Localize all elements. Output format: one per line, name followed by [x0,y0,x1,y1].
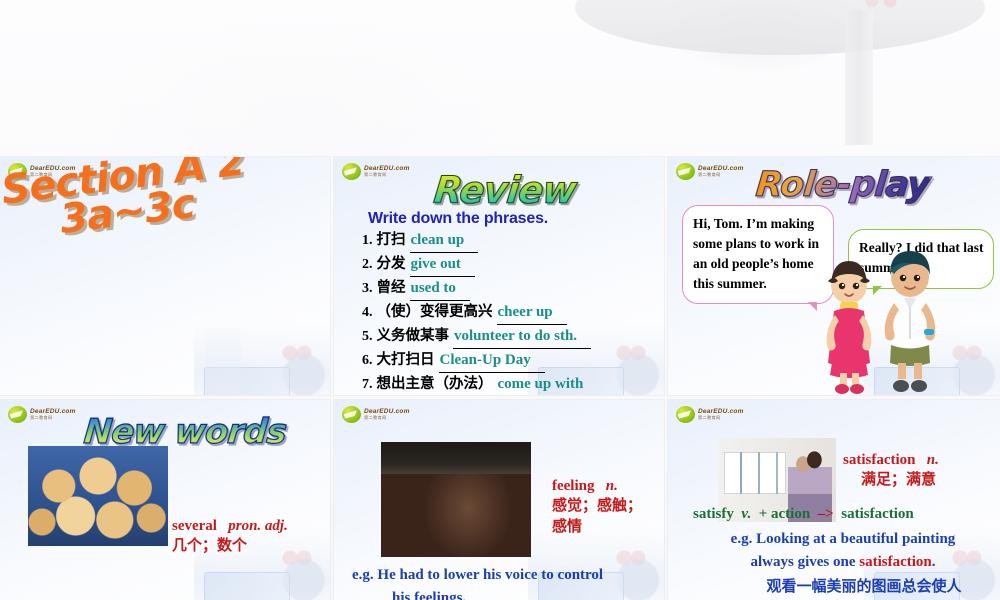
list-item: 2. 分发 give out [362,253,660,277]
review-heading: Write down the phrases. [368,210,548,228]
book-watermark [204,572,290,600]
item-chinese: 分发 [377,253,406,275]
item-english: come up with [497,373,598,395]
example-line2: his feelings. [352,587,664,600]
logo-subtitle: 第二教育网 [364,416,410,420]
example-line2-a: always gives one [751,554,860,570]
item-chinese: 打扫 [377,229,406,251]
vocab-feeling-headword: feeling n. [552,478,642,495]
vocab-satisfaction-example: e.g. Looking at a beautiful painting alw… [690,528,996,598]
glass-watermark [205,325,241,395]
logo-subtitle: 第二教育网 [698,173,744,177]
formula-pos: v. [741,506,751,522]
list-item: 7. 想出主意（办法） come up with [362,373,660,395]
item-number: 6. [362,350,373,371]
vocab-satisfaction: satisfaction n. 满足；满意 [843,452,939,490]
deardu-logo: DearEDU.com 第二教育网 [8,406,76,423]
vocab-satisfaction-meaning: 满足；满意 [843,469,939,490]
list-item: 4. （使）变得更高兴 cheer up [362,301,660,325]
formula-action: + action [759,506,810,522]
deardu-logo: DearEDU.com 第二教育网 [676,406,744,423]
boy-character-illustration [878,245,942,395]
item-english: cheer up [497,301,567,325]
deardu-logo-icon [676,163,695,180]
item-english: give out [410,253,475,277]
formula-noun: satisfaction [841,506,914,522]
vocab-word: satisfaction [843,452,916,468]
example-highlight: satisfaction [859,554,932,570]
saluting-soldier-photo [381,442,531,557]
item-chinese: 曾经 [377,277,406,299]
item-english: used to [410,277,470,301]
slide-thumbnail-grid: DearEDU.com 第二教育网 Section A 2 3a~3c Dear… [0,0,1000,600]
deardu-logo: DearEDU.com 第二教育网 [342,406,410,423]
logo-subtitle: 第二教育网 [698,416,744,420]
section-a-title: Section A 2 3a~3c [0,157,254,246]
item-number: 4. [362,302,373,323]
item-english: volunteer to do sth. [453,325,591,349]
vocab-several: several pron. adj. 几个；数个 [172,518,288,556]
deardu-logo-icon [342,406,361,423]
example-chinese: 观看一幅美丽的图画总会使人 [690,575,996,598]
book-watermark [204,367,290,395]
girl-character-illustration [820,255,878,395]
vocab-several-meaning: 几个；数个 [172,535,288,556]
example-period: . [932,554,936,570]
item-chinese: 大打扫日 [377,349,435,371]
list-item: 6. 大打扫日 Clean-Up Day [362,349,660,373]
item-number: 2. [362,254,373,275]
list-item: 5. 义务做某事 volunteer to do sth. [362,325,660,349]
deardu-logo-icon [342,163,361,180]
slide-new-words-feeling[interactable]: DearEDU.com 第二教育网 feeling n. 感觉；感触； 感情 e… [334,400,664,600]
item-chinese: 义务做某事 [377,325,450,347]
role-play-title: Role-play [754,165,930,205]
slide-role-play[interactable]: DearEDU.com 第二教育网 Role-play Hi, Tom. I’m… [668,157,1000,395]
item-english: Clean-Up Day [439,349,545,373]
example-line1: e.g. Looking at a beautiful painting [690,528,996,551]
list-item: 3. 曾经 used to [362,277,660,301]
list-item: 1. 打扫 clean up [362,229,660,253]
vocab-pos: pron. adj. [228,518,288,534]
review-phrase-list: 1. 打扫 clean up 2. 分发 give out 3. 曾经 used… [362,229,660,395]
item-chinese: （使）变得更高兴 [377,301,493,323]
vocab-pos: n. [606,478,618,494]
vocab-feeling-example: e.g. He had to lower his voice to contro… [352,564,664,600]
example-line2: always gives one satisfaction. [690,551,996,574]
vocab-satisfaction-headword: satisfaction n. [843,452,939,469]
satisfaction-formula: satisfy v. + action –> satisfaction [693,506,914,523]
logo-subtitle: 第二教育网 [364,173,410,177]
item-number: 7. [362,374,373,395]
vase-watermark [194,323,330,395]
vocab-word: several [172,518,217,534]
logo-subtitle: 第二教育网 [30,416,76,420]
vocab-pos: n. [927,452,939,468]
puppies-photo [28,446,168,546]
review-title: Review [432,169,578,212]
deardu-logo-icon [8,406,27,423]
slide-new-words-several[interactable]: DearEDU.com 第二教育网 New words several pron… [0,400,330,600]
arrow-icon: –> [818,506,834,522]
vocab-feeling-meaning-line1: 感觉；感触； [552,495,642,516]
deardu-logo: DearEDU.com 第二教育网 [342,163,410,180]
formula-verb: satisfy [693,506,734,522]
vocab-feeling-meaning-line2: 感情 [552,516,642,537]
vocab-feeling: feeling n. 感觉；感触； 感情 [552,478,642,538]
item-number: 1. [362,230,373,251]
example-line1: e.g. He had to lower his voice to contro… [352,564,664,587]
item-english: clean up [410,229,479,253]
item-number: 3. [362,278,373,299]
speech-bubble-left: Hi, Tom. I’m making some plans to work i… [682,205,834,304]
deardu-logo-icon [676,406,695,423]
item-chinese: 想出主意（办法） [377,373,493,395]
slide-review[interactable]: DearEDU.com 第二教育网 Review Write down the … [334,157,664,395]
item-number: 5. [362,326,373,347]
slide-new-words-satisfaction[interactable]: DearEDU.com 第二教育网 satisfaction n. 满足；满意 … [668,400,1000,600]
slide-section-a[interactable]: DearEDU.com 第二教育网 Section A 2 3a~3c [0,157,330,395]
deardu-logo: DearEDU.com 第二教育网 [676,163,744,180]
vocab-word: feeling [552,478,595,494]
vocab-several-headword: several pron. adj. [172,518,288,535]
